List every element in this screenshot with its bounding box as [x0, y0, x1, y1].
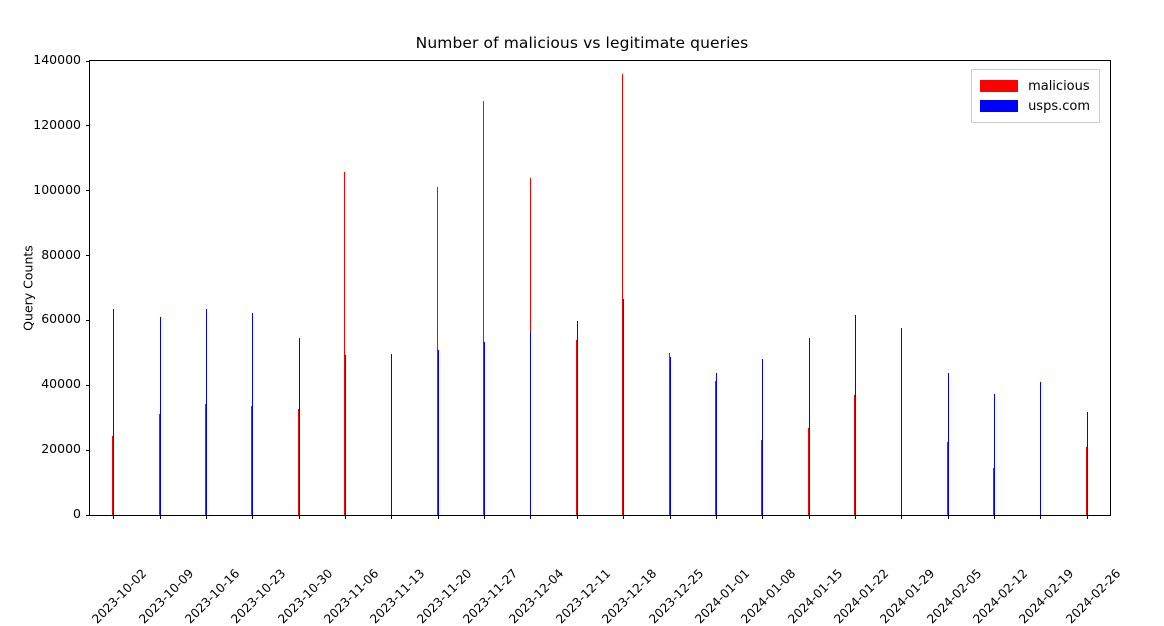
x-axis-tick-mark: [299, 515, 300, 519]
bar-usps-com-2024-02-05: [948, 373, 949, 515]
chart-figure: Number of malicious vs legitimate querie…: [0, 0, 1164, 618]
bar-usps-com-2023-10-23: [252, 313, 253, 515]
x-axis-tick-mark: [113, 515, 114, 519]
legend-label: malicious: [1028, 79, 1090, 94]
bar-usps-com-2024-02-12: [994, 394, 995, 515]
bar-group: [415, 61, 461, 515]
bar-group: [646, 61, 692, 515]
y-axis-tick-label: 60000: [41, 311, 81, 326]
x-axis-tick-mark: [855, 515, 856, 519]
bar-usps-com-2023-10-16: [206, 309, 207, 515]
y-axis-tick-label: 0: [73, 506, 81, 521]
y-axis-label: Query Counts: [21, 203, 36, 373]
bar-usps-com-2024-01-15: [809, 338, 810, 515]
x-axis-tick-mark: [1040, 515, 1041, 519]
x-axis-tick-mark: [670, 515, 671, 519]
bar-usps-com-2023-12-18: [623, 299, 624, 515]
y-axis-tick-label: 120000: [33, 117, 81, 132]
bar-group: [832, 61, 878, 515]
x-axis-tick-mark: [623, 515, 624, 519]
bars-layer: [90, 61, 1110, 515]
bar-group: [693, 61, 739, 515]
x-axis-tick-mark: [948, 515, 949, 519]
x-axis-tick-mark: [345, 515, 346, 519]
y-axis-tick-label: 40000: [41, 376, 81, 391]
bar-usps-com-2023-12-04: [530, 332, 531, 515]
legend-swatch: [980, 100, 1018, 112]
bar-group: [136, 61, 182, 515]
bar-usps-com-2023-12-11: [577, 321, 578, 515]
bar-usps-com-2023-11-13: [391, 354, 392, 515]
bar-group: [229, 61, 275, 515]
x-axis-tick-mark: [1087, 515, 1088, 519]
bar-usps-com-2024-01-01: [716, 373, 717, 515]
bar-group: [507, 61, 553, 515]
legend-swatch: [980, 80, 1018, 92]
bar-group: [322, 61, 368, 515]
x-axis-tick-mark: [160, 515, 161, 519]
x-axis-tick-mark: [809, 515, 810, 519]
bar-group: [275, 61, 321, 515]
bar-usps-com-2023-11-06: [345, 355, 346, 515]
bar-group: [878, 61, 924, 515]
legend-item: malicious: [980, 76, 1090, 96]
legend-label: usps.com: [1028, 99, 1090, 114]
bar-usps-com-2024-02-26: [1087, 412, 1088, 515]
bar-usps-com-2024-01-22: [855, 315, 856, 515]
bar-usps-com-2024-01-29: [901, 328, 902, 515]
x-axis-tick-mark: [206, 515, 207, 519]
bar-usps-com-2023-11-27: [484, 342, 485, 515]
x-axis-tick-mark: [716, 515, 717, 519]
x-axis-tick-mark: [577, 515, 578, 519]
bar-group: [600, 61, 646, 515]
bar-group: [785, 61, 831, 515]
x-axis-tick-mark: [994, 515, 995, 519]
bar-usps-com-2024-01-08: [762, 359, 763, 515]
x-axis-tick-mark: [252, 515, 253, 519]
bar-usps-com-2023-11-20: [438, 350, 439, 515]
bar-usps-com-2023-12-25: [670, 357, 671, 515]
chart-legend: malicioususps.com: [971, 69, 1100, 123]
bar-usps-com-2024-02-19: [1040, 382, 1041, 515]
bar-usps-com-2023-10-02: [113, 309, 114, 515]
legend-item: usps.com: [980, 96, 1090, 116]
bar-group: [1064, 61, 1110, 515]
y-axis-tick-label: 100000: [33, 182, 81, 197]
x-axis-tick-mark: [901, 515, 902, 519]
bar-group: [971, 61, 1017, 515]
bar-group: [461, 61, 507, 515]
bar-usps-com-2023-10-30: [299, 338, 300, 515]
y-axis-tick-label: 20000: [41, 441, 81, 456]
bar-usps-com-2023-10-09: [160, 317, 161, 515]
bar-group: [925, 61, 971, 515]
bar-group: [90, 61, 136, 515]
y-axis-tick-label: 80000: [41, 247, 81, 262]
bar-group: [1017, 61, 1063, 515]
bar-group: [554, 61, 600, 515]
bar-group: [183, 61, 229, 515]
x-axis-tick-mark: [484, 515, 485, 519]
x-axis-tick-mark: [530, 515, 531, 519]
bar-group: [739, 61, 785, 515]
x-axis-tick-mark: [438, 515, 439, 519]
bar-group: [368, 61, 414, 515]
y-axis-tick-label: 140000: [33, 52, 81, 67]
x-axis-tick-mark: [762, 515, 763, 519]
plot-area: Query Counts 020000400006000080000100000…: [89, 60, 1111, 516]
chart-title: Number of malicious vs legitimate querie…: [0, 34, 1164, 52]
x-axis-tick-mark: [391, 515, 392, 519]
